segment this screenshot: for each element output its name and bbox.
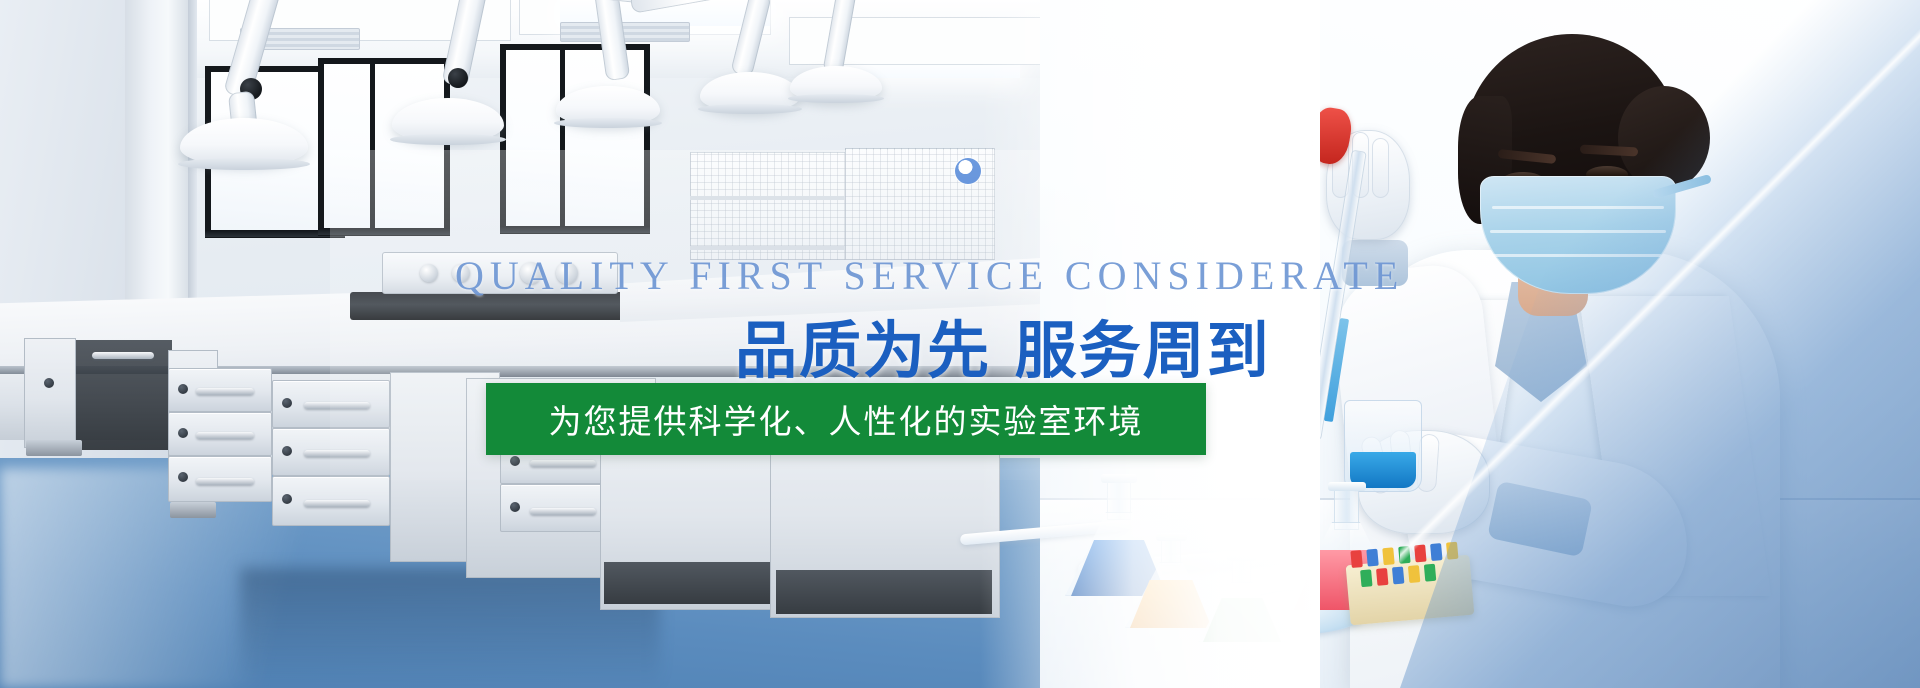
hero-banner: QUALITY FIRST SERVICE CONSIDERATE 品质为先 服… [0,0,1920,688]
subtitle-green-bar: 为您提供科学化、人性化的实验室环境 [486,383,1206,455]
subtitle-text: 为您提供科学化、人性化的实验室环境 [549,395,1144,443]
banner-copy: QUALITY FIRST SERVICE CONSIDERATE 品质为先 服… [0,0,1920,688]
english-tagline: QUALITY FIRST SERVICE CONSIDERATE [455,252,1404,299]
headline-chinese: 品质为先 服务周到 [735,300,1271,390]
